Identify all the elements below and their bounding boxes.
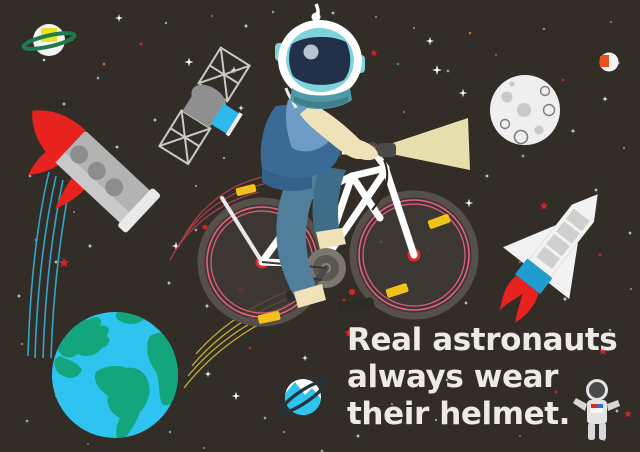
astronaut-cyclist xyxy=(0,0,640,452)
rear-reflector-top xyxy=(235,184,256,197)
visor xyxy=(289,37,350,85)
grip-right xyxy=(378,143,396,157)
helmet xyxy=(273,4,367,109)
visor-highlight xyxy=(304,45,319,60)
pedal-rear xyxy=(337,297,374,314)
poster-canvas: Real astronauts always wear their helmet… xyxy=(0,0,640,452)
